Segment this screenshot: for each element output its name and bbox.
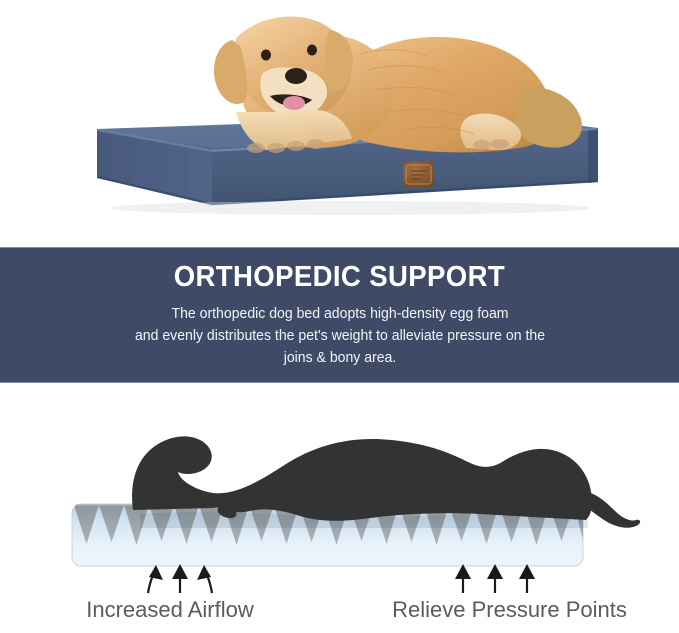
label-increased-airflow: Increased Airflow <box>0 599 340 621</box>
banner-line-1: The orthopedic dog bed adopts high-densi… <box>68 303 611 325</box>
banner-description: The orthopedic dog bed adopts high-densi… <box>68 303 611 369</box>
egg-foam-diagram-section: Increased Airflow Relieve Pressure Point… <box>0 384 679 633</box>
product-photo-section <box>0 0 679 240</box>
banner-line-2: and evenly distributes the pet's weight … <box>68 325 611 347</box>
diagram-labels-row: Increased Airflow Relieve Pressure Point… <box>0 599 679 621</box>
orthopedic-support-banner: ORTHOPEDIC SUPPORT The orthopedic dog be… <box>0 247 679 383</box>
banner-title: ORTHOPEDIC SUPPORT <box>174 262 505 294</box>
product-infographic-page: ORTHOPEDIC SUPPORT The orthopedic dog be… <box>0 0 679 633</box>
egg-foam-diagram <box>0 384 679 633</box>
banner-line-3: joins & bony area. <box>68 347 611 369</box>
bed-brand-label <box>403 162 434 187</box>
product-photo-image <box>0 0 679 240</box>
label-relieve-pressure-points: Relieve Pressure Points <box>340 599 679 621</box>
